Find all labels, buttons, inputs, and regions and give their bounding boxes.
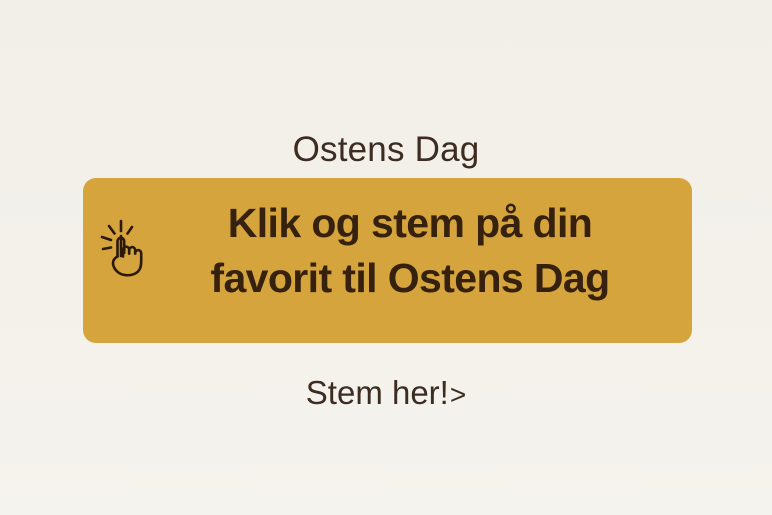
vote-here-label: Stem her! — [306, 374, 449, 411]
page-root: Ostens Dag Klik og stem på din favorit t… — [0, 0, 772, 515]
cta-text-block: Klik og stem på din favorit til Ostens D… — [160, 196, 660, 306]
cta-line-2: favorit til Ostens Dag — [160, 251, 660, 306]
page-title: Ostens Dag — [0, 128, 772, 172]
vote-here-link[interactable]: Stem her!> — [0, 371, 772, 417]
cta-line-1: Klik og stem på din — [160, 196, 660, 251]
chevron-right-icon: > — [450, 379, 466, 410]
click-hand-icon — [97, 218, 153, 278]
